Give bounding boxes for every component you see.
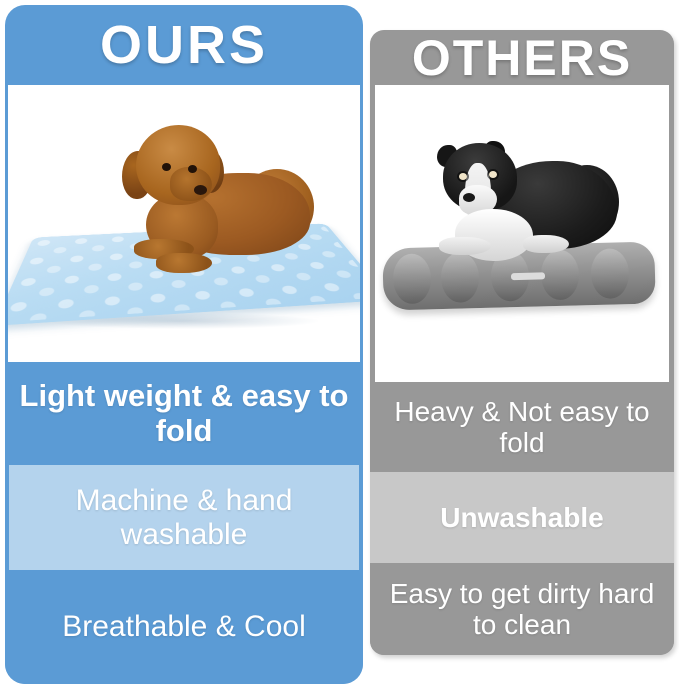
poodle-eye-right	[188, 165, 197, 173]
collie-eye-right	[489, 171, 497, 178]
fact-row-ours-1: Light weight & easy to fold	[5, 362, 363, 465]
fact-text-others-1: Heavy & Not easy to fold	[384, 396, 660, 459]
fact-row-ours-2: Machine & hand washable	[9, 465, 359, 570]
fact-text-ours-2: Machine & hand washable	[23, 484, 345, 551]
photo-scene-cooling-mat	[8, 85, 360, 362]
column-title-ours: OURS	[100, 18, 268, 72]
collie-eye-left	[459, 173, 467, 180]
collie-front-leg-right	[523, 235, 569, 253]
poodle-front-paw-right	[156, 253, 212, 273]
fact-row-others-3: Easy to get dirty hard to clean	[370, 563, 674, 655]
poodle-dog	[100, 123, 310, 273]
comparison-infographic: OURS	[0, 0, 679, 684]
fact-text-ours-1: Light weight & easy to fold	[19, 379, 349, 448]
comparison-column-ours: OURS	[5, 5, 363, 684]
product-photo-others	[375, 85, 669, 382]
column-header-others: OTHERS	[370, 30, 674, 85]
fact-row-others-1: Heavy & Not easy to fold	[370, 382, 674, 472]
photo-scene-padded-bed	[375, 85, 669, 382]
poodle-eye-left	[162, 163, 171, 171]
comparison-column-others: OTHERS	[370, 30, 674, 655]
fact-text-others-2: Unwashable	[440, 502, 603, 533]
bed-label-tag	[511, 272, 545, 280]
fact-row-others-2: Unwashable	[370, 472, 674, 563]
bed-tuft	[392, 253, 431, 304]
fact-text-others-3: Easy to get dirty hard to clean	[384, 578, 660, 641]
column-header-ours: OURS	[5, 5, 363, 85]
collie-front-leg-left	[439, 237, 491, 255]
collie-dog	[427, 143, 617, 267]
fact-text-ours-3: Breathable & Cool	[62, 610, 306, 644]
poodle-nose	[194, 185, 207, 195]
collie-nose	[463, 193, 475, 202]
fact-row-ours-3: Breathable & Cool	[5, 570, 363, 684]
product-photo-ours	[8, 85, 360, 362]
column-title-others: OTHERS	[412, 33, 632, 83]
